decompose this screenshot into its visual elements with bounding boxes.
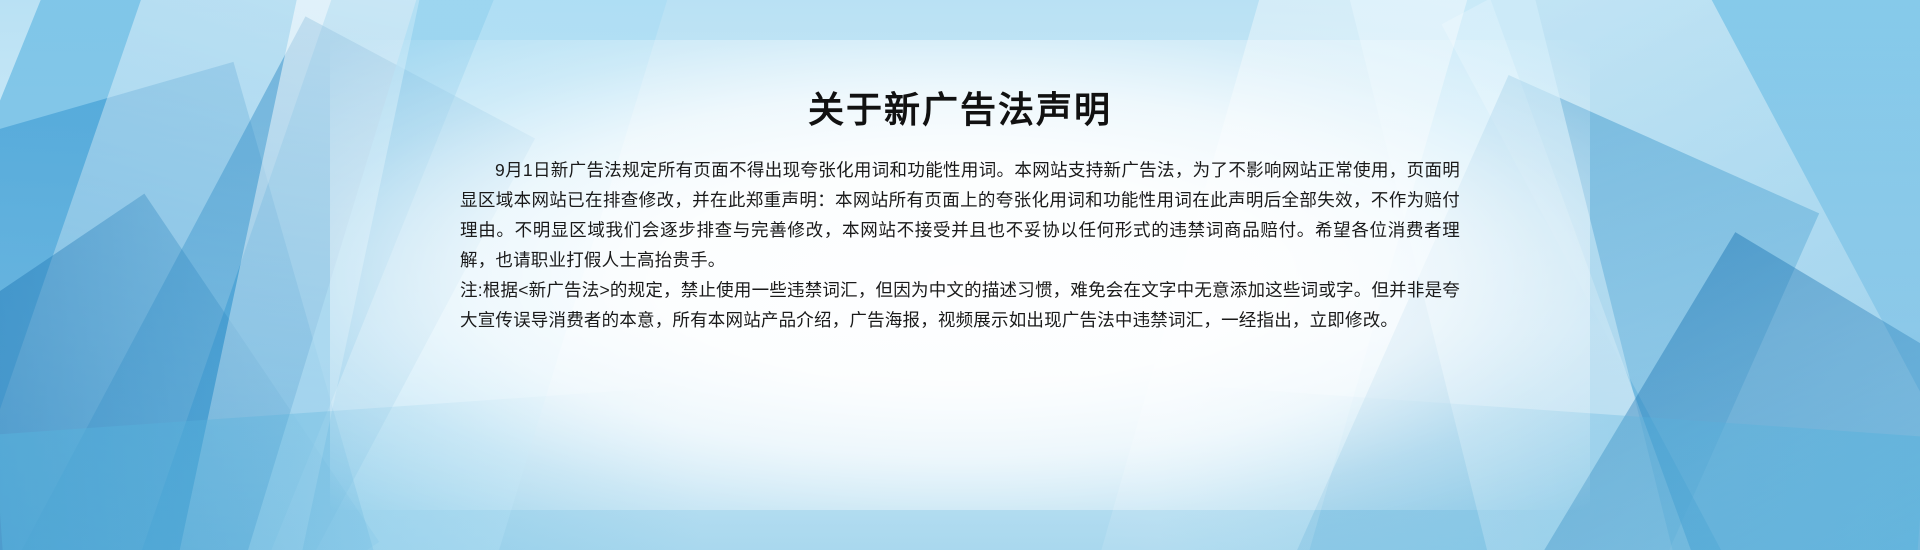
- statement-paragraph-1: 9月1日新广告法规定所有页面不得出现夸张化用词和功能性用词。本网站支持新广告法，…: [460, 155, 1460, 275]
- background-shape-1: [0, 0, 498, 550]
- background-shape-3: [0, 0, 382, 550]
- background-shape-6: [152, 0, 427, 550]
- page-title: 关于新广告法声明: [460, 0, 1460, 131]
- statement-paragraph-2: 注:根据<新广告法>的规定，禁止使用一些违禁词汇，但因为中文的描述习惯，难免会在…: [460, 275, 1460, 335]
- background-shape-8: [1469, 0, 1920, 550]
- background-shape-4: [5, 16, 535, 550]
- background-shape-12: [1519, 232, 1920, 550]
- background-shape-2: [0, 62, 426, 550]
- background-shape-9: [1442, 0, 1920, 550]
- advertising-law-statement-banner: 关于新广告法声明 9月1日新广告法规定所有页面不得出现夸张化用词和功能性用词。本…: [0, 0, 1920, 550]
- background-shape-5: [0, 194, 379, 550]
- statement-content: 关于新广告法声明 9月1日新广告法规定所有页面不得出现夸张化用词和功能性用词。本…: [460, 0, 1460, 550]
